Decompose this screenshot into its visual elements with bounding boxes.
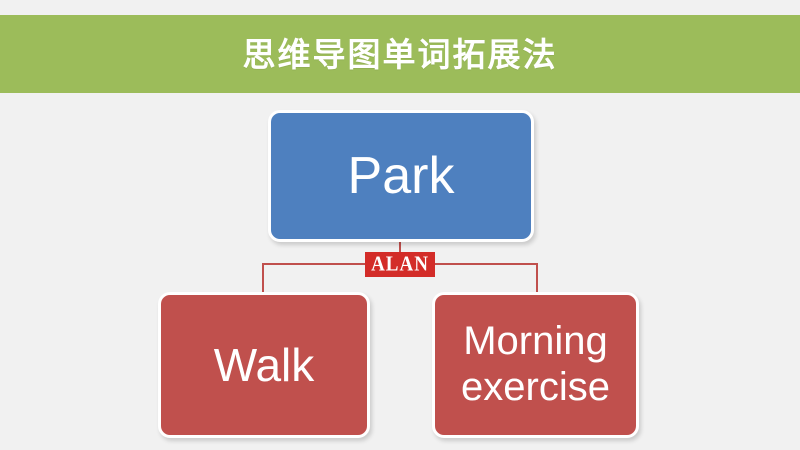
mindmap-node-park[interactable]: Park: [268, 110, 534, 242]
mindmap-node-morning-exercise-label: Morning exercise: [435, 319, 636, 410]
mindmap-node-morning-exercise[interactable]: Morning exercise: [432, 292, 639, 438]
mindmap-node-walk[interactable]: Walk: [158, 292, 370, 438]
mindmap-node-park-label: Park: [342, 149, 461, 204]
alan-watermark-label: ALAN: [371, 254, 429, 275]
alan-watermark-badge: ALAN: [365, 252, 435, 277]
page-title: 思维导图单词拓展法: [0, 15, 800, 93]
connector-drop-walk: [262, 263, 264, 293]
slide-canvas: 思维导图单词拓展法 ALAN Park Walk Morning exercis…: [0, 0, 800, 450]
connector-drop-morning-exercise: [536, 263, 538, 293]
mindmap-node-walk-label: Walk: [208, 341, 321, 389]
